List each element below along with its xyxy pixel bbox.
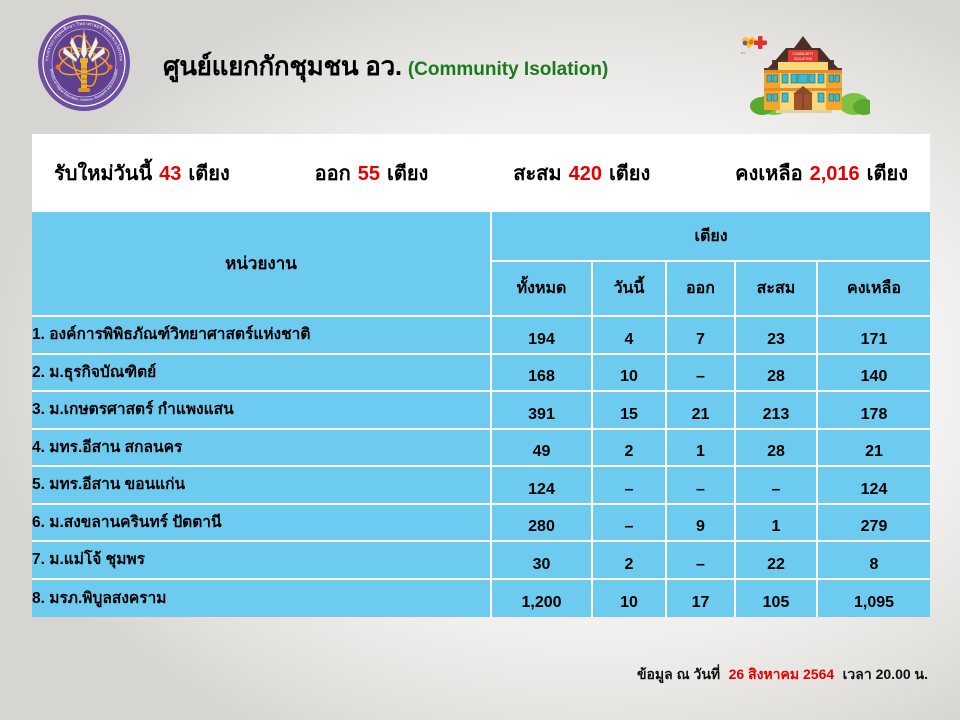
summary-unit-remaining: เตียง <box>867 157 908 189</box>
summary-item-remaining: คงเหลือ 2,016 เตียง <box>735 157 908 189</box>
row-out: – <box>667 467 736 505</box>
table-row: 2. ม.ธุรกิจบัณฑิตย์ 168 10 – 28 140 <box>32 355 930 393</box>
row-cumulative: 23 <box>736 317 818 355</box>
summary-value-cumulative: 420 <box>569 163 602 186</box>
row-remaining: 178 <box>818 392 930 430</box>
row-total: 30 <box>492 542 593 580</box>
column-header-today: วันนี้ <box>593 262 667 317</box>
row-today: 4 <box>593 317 667 355</box>
row-cumulative: 28 <box>736 430 818 468</box>
row-out: – <box>667 355 736 393</box>
footer-suffix: เวลา 20.00 น. <box>843 666 928 682</box>
row-total: 391 <box>492 392 593 430</box>
row-org-name: 1. องค์การพิพิธภัณฑ์วิทยาศาสตร์แห่งชาติ <box>32 317 492 355</box>
summary-label-discharged: ออก <box>315 157 351 189</box>
row-total: 280 <box>492 505 593 543</box>
row-total: 194 <box>492 317 593 355</box>
summary-strip: รับใหม่วันนี้ 43 เตียง ออก 55 เตียง สะสม… <box>32 134 930 212</box>
row-cumulative: 22 <box>736 542 818 580</box>
row-today: 10 <box>593 355 667 393</box>
row-remaining: 124 <box>818 467 930 505</box>
row-org-name: 4. มทร.อีสาน สกลนคร <box>32 430 492 468</box>
data-timestamp-footer: ข้อมูล ณ วันที่ 26 สิงหาคม 2564 เวลา 20.… <box>0 664 960 686</box>
row-cumulative: 1 <box>736 505 818 543</box>
row-org-name: 7. ม.แม่โจ้ ชุมพร <box>32 542 492 580</box>
summary-label-cumulative: สะสม <box>513 157 561 189</box>
table-header: หน่วยงาน เตียง ทั้งหมด วันนี้ ออก สะสม ค… <box>32 212 930 317</box>
row-total: 168 <box>492 355 593 393</box>
mhesi-emblem-logo: กระทรวงการอุดมศึกษา วิทยาศาสตร์ วิจัยและ… <box>34 13 134 113</box>
table-row: 7. ม.แม่โจ้ ชุมพร 30 2 – 22 8 <box>32 542 930 580</box>
row-cumulative: 28 <box>736 355 818 393</box>
column-header-total: ทั้งหมด <box>492 262 593 317</box>
table-row: 5. มทร.อีสาน ขอนแก่น 124 – – – 124 <box>32 467 930 505</box>
row-org-name: 6. ม.สงขลานครินทร์ ปัตตานี <box>32 505 492 543</box>
row-cumulative: – <box>736 467 818 505</box>
summary-unit-new-today: เตียง <box>188 157 229 189</box>
row-remaining: 21 <box>818 430 930 468</box>
row-cumulative: 105 <box>736 580 818 618</box>
summary-label-new-today: รับใหม่วันนี้ <box>54 157 152 189</box>
summary-unit-discharged: เตียง <box>387 157 428 189</box>
row-total: 49 <box>492 430 593 468</box>
table-row: 8. มรภ.พิบูลสงคราม 1,200 10 17 105 1,095 <box>32 580 930 618</box>
footer-prefix: ข้อมูล ณ วันที่ <box>637 666 720 682</box>
table-row: 6. ม.สงขลานครินทร์ ปัตตานี 280 – 9 1 279 <box>32 505 930 543</box>
table-row: 4. มทร.อีสาน สกลนคร 49 2 1 28 21 <box>32 430 930 468</box>
row-org-name: 3. ม.เกษตรศาสตร์ กำแพงแสน <box>32 392 492 430</box>
row-out: – <box>667 542 736 580</box>
summary-label-remaining: คงเหลือ <box>735 157 802 189</box>
svg-text:อว.: อว. <box>741 51 746 55</box>
row-out: 1 <box>667 430 736 468</box>
column-header-out: ออก <box>667 262 736 317</box>
row-remaining: 140 <box>818 355 930 393</box>
row-org-name: 5. มทร.อีสาน ขอนแก่น <box>32 467 492 505</box>
row-out: 9 <box>667 505 736 543</box>
row-org-name: 2. ม.ธุรกิจบัณฑิตย์ <box>32 355 492 393</box>
page-title-english: (Community Isolation) <box>408 59 609 80</box>
table-body: 1. องค์การพิพิธภัณฑ์วิทยาศาสตร์แห่งชาติ … <box>32 317 930 617</box>
row-remaining: 8 <box>818 542 930 580</box>
summary-value-discharged: 55 <box>358 163 380 186</box>
table-header-row-1: หน่วยงาน เตียง <box>32 212 930 262</box>
row-today: – <box>593 467 667 505</box>
summary-item-new-today: รับใหม่วันนี้ 43 เตียง <box>54 157 230 189</box>
row-cumulative: 213 <box>736 392 818 430</box>
row-remaining: 171 <box>818 317 930 355</box>
row-out: 7 <box>667 317 736 355</box>
row-remaining: 279 <box>818 505 930 543</box>
row-today: 15 <box>593 392 667 430</box>
row-today: 10 <box>593 580 667 618</box>
community-isolation-building-icon: อว. COMMUNITY ISOLATION <box>736 18 870 118</box>
row-out: 17 <box>667 580 736 618</box>
column-header-cumulative: สะสม <box>736 262 818 317</box>
page-title: ศูนย์แยกกักชุมชน อว.(Community Isolation… <box>163 46 733 87</box>
row-today: 2 <box>593 430 667 468</box>
row-total: 124 <box>492 467 593 505</box>
report-card: รับใหม่วันนี้ 43 เตียง ออก 55 เตียง สะสม… <box>32 134 930 617</box>
row-remaining: 1,095 <box>818 580 930 618</box>
column-header-remaining: คงเหลือ <box>818 262 930 317</box>
page-header: กระทรวงการอุดมศึกษา วิทยาศาสตร์ วิจัยและ… <box>0 0 960 128</box>
summary-item-cumulative: สะสม 420 เตียง <box>513 157 650 189</box>
row-total: 1,200 <box>492 580 593 618</box>
summary-value-remaining: 2,016 <box>810 163 860 186</box>
summary-value-new-today: 43 <box>159 163 181 186</box>
table-row: 3. ม.เกษตรศาสตร์ กำแพงแสน 391 15 21 213 … <box>32 392 930 430</box>
svg-text:COMMUNITY: COMMUNITY <box>793 52 815 56</box>
summary-unit-cumulative: เตียง <box>609 157 650 189</box>
bed-capacity-table: หน่วยงาน เตียง ทั้งหมด วันนี้ ออก สะสม ค… <box>32 212 930 617</box>
table-row: 1. องค์การพิพิธภัณฑ์วิทยาศาสตร์แห่งชาติ … <box>32 317 930 355</box>
row-today: – <box>593 505 667 543</box>
row-org-name: 8. มรภ.พิบูลสงคราม <box>32 580 492 618</box>
page-title-thai: ศูนย์แยกกักชุมชน อว. <box>163 51 402 81</box>
medical-cross-badge: อว. <box>741 36 767 55</box>
summary-item-discharged: ออก 55 เตียง <box>315 157 429 189</box>
row-out: 21 <box>667 392 736 430</box>
row-today: 2 <box>593 542 667 580</box>
footer-date: 26 สิงหาคม 2564 <box>729 666 835 682</box>
column-group-header-beds: เตียง <box>492 212 930 262</box>
svg-text:ISOLATION: ISOLATION <box>794 57 812 61</box>
column-header-unit: หน่วยงาน <box>32 212 492 317</box>
